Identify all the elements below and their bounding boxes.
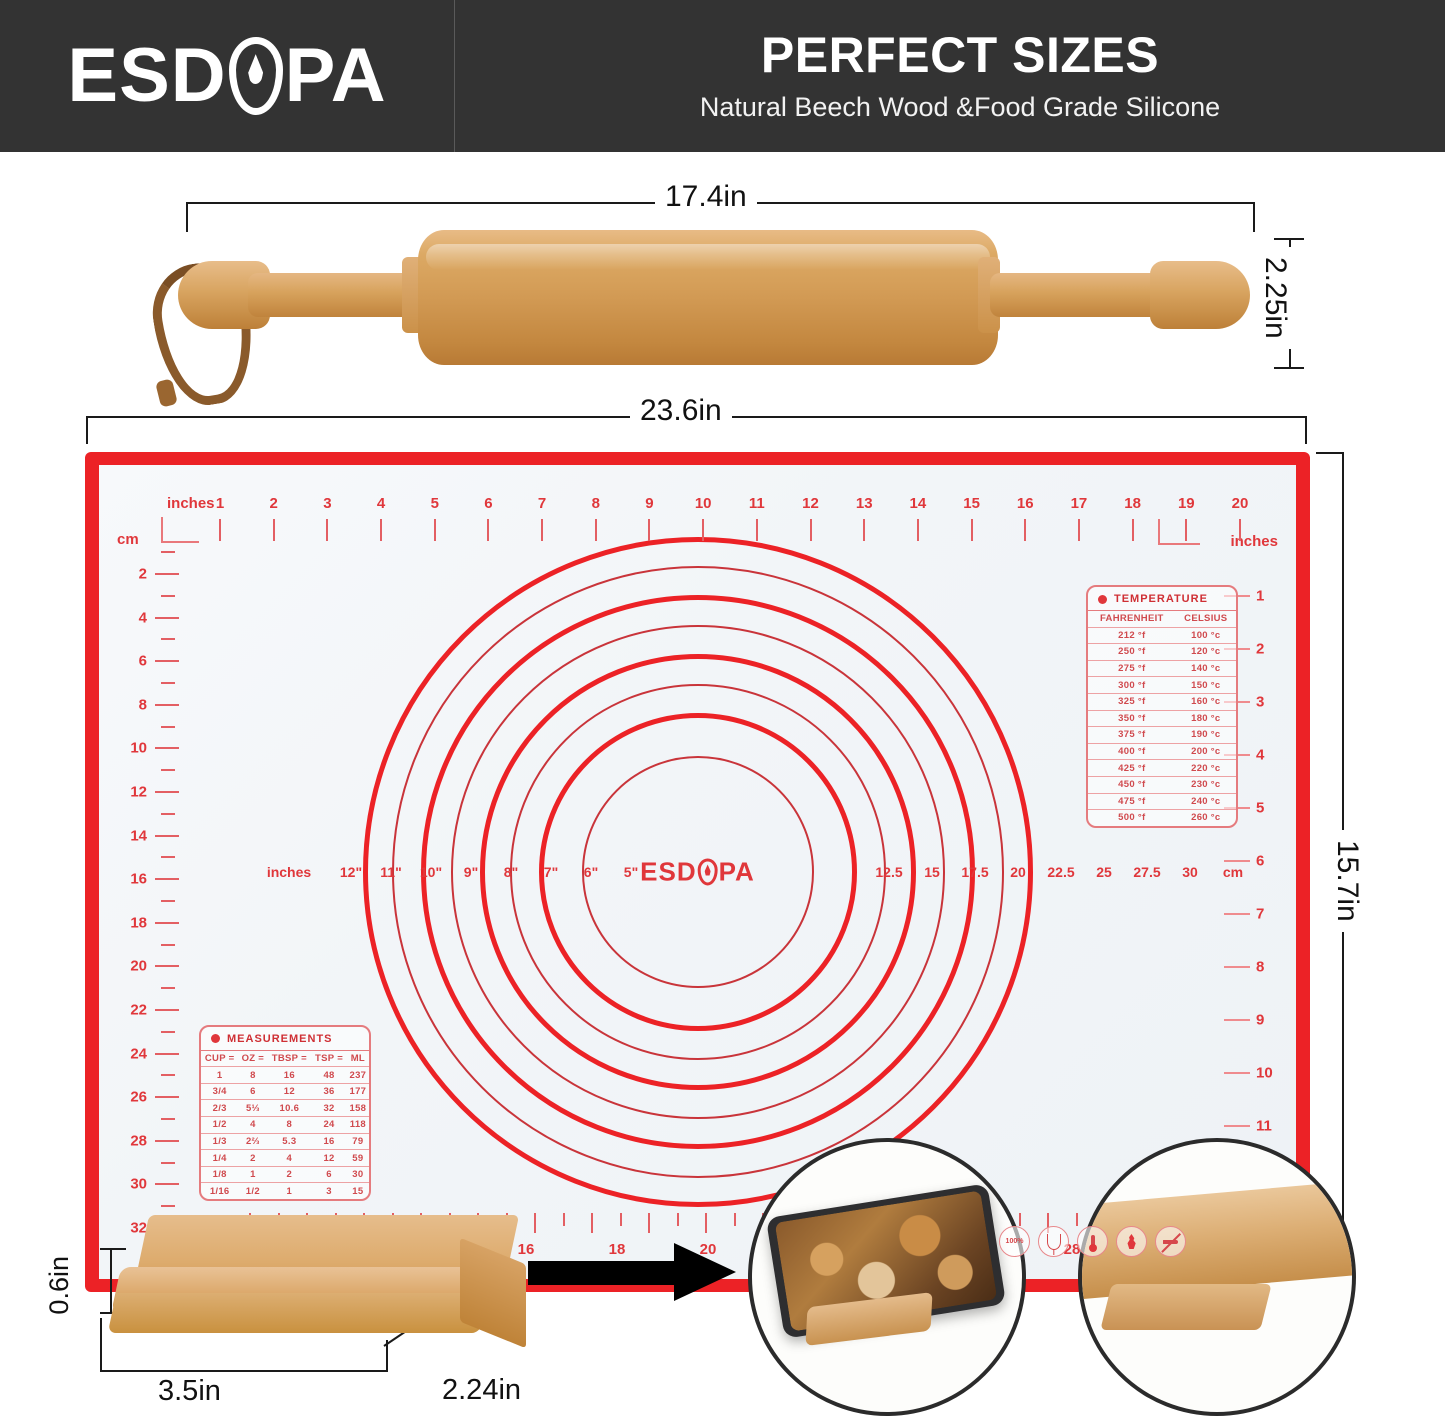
ruler-tick (591, 1213, 593, 1233)
ruler-tick (810, 519, 812, 541)
table-cell: 2/3 (201, 1100, 238, 1117)
ruler-number: 12 (802, 495, 819, 512)
column-header: TSP = (311, 1051, 346, 1067)
table-cell: 100 °c (1176, 627, 1236, 644)
table-cell: 475 °f (1088, 793, 1176, 810)
table-cell: 36 (311, 1083, 346, 1100)
ruler-number: 4 (1256, 747, 1282, 764)
ruler-tick (1224, 966, 1250, 968)
ruler-number: 22 (113, 1002, 147, 1019)
table-cell: 325 °f (1088, 693, 1176, 710)
column-header: FAHRENHEIT (1088, 611, 1176, 627)
center-scale-inch-value: 12" (340, 864, 362, 880)
table-cell: 190 °c (1176, 727, 1236, 744)
ruler-number: 12 (113, 784, 147, 801)
ruler-number: 5 (1256, 800, 1282, 817)
ruler-number: 7 (538, 495, 546, 512)
ruler-tick (155, 1096, 179, 1098)
ruler-number: 17 (1071, 495, 1088, 512)
top-ruler-corner-right (1158, 519, 1200, 545)
table-cell: 10.6 (267, 1100, 311, 1117)
table-cell: 12 (311, 1150, 346, 1167)
mat-brand-pa: PA (719, 857, 755, 888)
table-row: 1/4241259 (201, 1150, 369, 1167)
ruler-tick (1224, 1019, 1250, 1021)
ruler-minor-tick (161, 944, 175, 946)
ruler-tick (677, 1213, 679, 1226)
ruler-tick (1019, 1213, 1021, 1226)
temperature-table: TEMPERATURE FAHRENHEITCELSIUS 212 °f100 … (1086, 585, 1238, 828)
ruler-number: 11 (1256, 1118, 1282, 1135)
center-scale-inch-value: 9" (464, 864, 478, 880)
ruler-minor-tick (161, 595, 175, 597)
ruler-number: 2 (113, 566, 147, 583)
temperature-title-text: TEMPERATURE (1114, 593, 1208, 605)
ruler-number: 4 (113, 609, 147, 626)
ruler-tick (971, 519, 973, 541)
stand-front-face (108, 1293, 489, 1333)
ruler-number: 5 (431, 495, 439, 512)
table-cell: 158 (347, 1100, 369, 1117)
table-cell: 8 (267, 1117, 311, 1134)
center-scale-cm-value: 22.5 (1047, 864, 1074, 880)
fire-resistant-icon (1116, 1226, 1147, 1257)
brand-text-pa: PA (285, 38, 387, 114)
ruler-tick (1024, 519, 1026, 541)
column-header: CELSIUS (1176, 611, 1236, 627)
table-cell: 220 °c (1176, 760, 1236, 777)
table-cell: 1 (201, 1067, 238, 1084)
ruler-number: 24 (113, 1045, 147, 1062)
ruler-tick (155, 922, 179, 924)
table-cell: 24 (311, 1117, 346, 1134)
ruler-minor-tick (161, 900, 175, 902)
temperature-table-title: TEMPERATURE (1088, 587, 1236, 611)
table-cell: 1/2 (238, 1183, 267, 1199)
column-header: CUP = (201, 1051, 238, 1067)
table-row: 212 °f100 °c (1088, 627, 1236, 644)
cut-resistant-icon (1155, 1226, 1186, 1257)
ruler-tick (1185, 519, 1187, 541)
bullet-icon (1098, 595, 1107, 604)
table-row: 450 °f230 °c (1088, 776, 1236, 793)
table-cell: 240 °c (1176, 793, 1236, 810)
dim-label-stand-height: 0.6in (44, 1248, 75, 1323)
table-cell: 275 °f (1088, 660, 1176, 677)
table-cell: 3/4 (201, 1083, 238, 1100)
rolling-pin (150, 225, 1270, 395)
inset-photo-pin-on-stand (1078, 1138, 1356, 1416)
column-header: TBSP = (267, 1051, 311, 1067)
ruler-minor-tick (161, 769, 175, 771)
mat-brand-esd: ESD (640, 857, 696, 888)
ruler-tick (326, 519, 328, 541)
ruler-number: 3 (1256, 694, 1282, 711)
table-cell: 48 (311, 1067, 346, 1084)
ruler-tick (1224, 1125, 1250, 1127)
ruler-tick (648, 519, 650, 541)
table-cell: 5.3 (267, 1133, 311, 1150)
dim-tick-mat-left (86, 416, 88, 444)
inset-photo-phone-on-stand (748, 1138, 1026, 1416)
ruler-minor-tick (161, 1118, 175, 1120)
column-header: ML (347, 1051, 369, 1067)
table-row: 1/32⅔5.31679 (201, 1133, 369, 1150)
ruler-tick (705, 1213, 707, 1233)
temperature-safe-icon (1077, 1226, 1108, 1257)
pin-barrel (418, 230, 998, 365)
ruler-number: 2 (270, 495, 278, 512)
table-cell: 160 °c (1176, 693, 1236, 710)
center-scale-cm-value: 17.5 (961, 864, 988, 880)
ruler-number: 11 (749, 495, 765, 512)
brand-text-esd: ESD (67, 38, 226, 114)
center-scale-cm-value: 20 (1010, 864, 1026, 880)
table-cell: 450 °f (1088, 776, 1176, 793)
ruler-tick (380, 519, 382, 541)
food-safe-icon (1038, 1226, 1069, 1257)
ruler-number: 20 (113, 958, 147, 975)
dim-label-mat-width: 23.6in (630, 394, 732, 428)
center-scale-inch-value: 11" (380, 864, 401, 880)
dim-tick-mat-top (1316, 452, 1344, 454)
silicone-baking-mat: inches cm inches 12345678910111213141516… (85, 452, 1310, 1292)
table-cell: 6 (238, 1083, 267, 1100)
ruler-tick (541, 519, 543, 541)
table-cell: 4 (267, 1150, 311, 1167)
ruler-number: 19 (1178, 495, 1195, 512)
table-cell: 4 (238, 1117, 267, 1134)
ruler-number: 3 (323, 495, 331, 512)
ruler-tick (155, 965, 179, 967)
leather-strap-knot (155, 378, 178, 407)
table-cell: 425 °f (1088, 760, 1176, 777)
ruler-tick (155, 704, 179, 706)
ruler-minor-tick (161, 1205, 175, 1207)
ruler-number: 26 (113, 1089, 147, 1106)
ruler-tick (534, 1213, 536, 1233)
pin-shaft-left (248, 273, 428, 317)
certification-badges: 100% (999, 1226, 1186, 1257)
table-cell: 32 (311, 1100, 346, 1117)
ruler-tick (155, 791, 179, 793)
ruler-tick (1076, 1213, 1078, 1226)
center-scale-cm-label: cm (1223, 864, 1243, 880)
ruler-number: 9 (1256, 1012, 1282, 1029)
ruler-number: 9 (645, 495, 653, 512)
bullet-icon (211, 1034, 220, 1043)
ruler-tick (155, 617, 179, 619)
header-text-block: PERFECT SIZES Natural Beech Wood &Food G… (455, 0, 1445, 152)
table-row: 400 °f200 °c (1088, 743, 1236, 760)
measurements-table: MEASUREMENTS CUP =OZ =TBSP =TSP =ML 1816… (199, 1025, 371, 1201)
ruler-number: 1 (1256, 588, 1282, 605)
measurements-title-text: MEASUREMENTS (227, 1033, 333, 1045)
table-row: 350 °f180 °c (1088, 710, 1236, 727)
ruler-tick (219, 519, 221, 541)
table-cell: 15 (347, 1183, 369, 1199)
table-cell: 500 °f (1088, 810, 1176, 826)
table-row: 1/161/21315 (201, 1183, 369, 1199)
ruler-number: 16 (1017, 495, 1034, 512)
pin-handle-right (1150, 261, 1250, 329)
ruler-number: 6 (113, 653, 147, 670)
table-cell: 200 °c (1176, 743, 1236, 760)
ruler-number: 13 (856, 495, 873, 512)
ruler-minor-tick (161, 638, 175, 640)
table-cell: 400 °f (1088, 743, 1176, 760)
center-scale-cm-value: 15 (924, 864, 940, 880)
table-cell: 230 °c (1176, 776, 1236, 793)
ruler-number: 14 (113, 827, 147, 844)
center-scale-inch-value: 7" (544, 864, 558, 880)
table-cell: 12 (267, 1083, 311, 1100)
center-scale-inch-value: 5" (624, 864, 638, 880)
ruler-number: 10 (695, 495, 712, 512)
ruler-tick (155, 660, 179, 662)
ruler-tick (155, 1140, 179, 1142)
table-cell: 1/8 (201, 1166, 238, 1183)
table-row: 375 °f190 °c (1088, 727, 1236, 744)
measurements-table-title: MEASUREMENTS (201, 1027, 369, 1051)
ruler-tick (620, 1213, 622, 1226)
table-cell: 260 °c (1176, 810, 1236, 826)
temperature-grid: FAHRENHEITCELSIUS 212 °f100 °c250 °f120 … (1088, 611, 1236, 826)
mat-brand-logo: ESD PA (640, 857, 755, 888)
table-row: 250 °f120 °c (1088, 644, 1236, 661)
table-cell: 16 (311, 1133, 346, 1150)
table-cell: 6 (311, 1166, 346, 1183)
ruler-tick (648, 1213, 650, 1233)
stand-holding-rolling-pin (1100, 1284, 1271, 1330)
table-row: 475 °f240 °c (1088, 793, 1236, 810)
table-cell: 1/16 (201, 1183, 238, 1199)
ruler-number: 18 (1124, 495, 1141, 512)
ruler-tick (1078, 519, 1080, 541)
center-scale-inch-value: 10" (420, 864, 442, 880)
table-row: 325 °f160 °c (1088, 693, 1236, 710)
table-cell: 1/2 (201, 1117, 238, 1134)
table-cell: 16 (267, 1067, 311, 1084)
ruler-number: 18 (113, 914, 147, 931)
table-cell: 120 °c (1176, 644, 1236, 661)
table-header-row: CUP =OZ =TBSP =TSP =ML (201, 1051, 369, 1067)
table-cell: 250 °f (1088, 644, 1176, 661)
ruler-minor-tick (161, 1031, 175, 1033)
page-subtitle: Natural Beech Wood &Food Grade Silicone (700, 92, 1220, 123)
ruler-number: 14 (910, 495, 927, 512)
page-header: ESD PA PERFECT SIZES Natural Beech Wood … (0, 0, 1445, 152)
table-cell: 237 (347, 1067, 369, 1084)
ruler-minor-tick (161, 856, 175, 858)
table-cell: 1 (267, 1183, 311, 1199)
ruler-tick (917, 519, 919, 541)
table-row: 181648237 (201, 1067, 369, 1084)
table-row: 275 °f140 °c (1088, 660, 1236, 677)
table-cell: 350 °f (1088, 710, 1176, 727)
ruler-tick (1132, 519, 1134, 541)
table-cell: 300 °f (1088, 677, 1176, 694)
table-row: 3/461236177 (201, 1083, 369, 1100)
center-scale-inch-value: 6" (584, 864, 598, 880)
top-ruler: inches cm inches 12345678910111213141516… (99, 495, 1296, 551)
table-cell: 1 (238, 1166, 267, 1183)
ruler-tick (155, 747, 179, 749)
ruler-tick (756, 519, 758, 541)
column-header: OZ = (238, 1051, 267, 1067)
table-row: 1/24824118 (201, 1117, 369, 1134)
ruler-tick (155, 1183, 179, 1185)
dim-label-stand-width: 3.5in (148, 1375, 231, 1408)
ruler-tick (734, 1213, 736, 1226)
ruler-minor-tick (161, 1162, 175, 1164)
platinum-silicone-icon: 100% (999, 1226, 1030, 1257)
table-cell: 375 °f (1088, 727, 1176, 744)
brand-block: ESD PA (0, 0, 455, 152)
ruler-tick (155, 835, 179, 837)
ruler-number: 1 (216, 495, 224, 512)
ruler-number: 10 (1256, 1065, 1282, 1082)
ruler-number: 8 (592, 495, 600, 512)
ruler-tick (702, 519, 704, 541)
center-scale-inch-value: 8" (504, 864, 518, 880)
dim-tick-stand-w-left (100, 1318, 102, 1372)
table-cell: 3 (311, 1183, 346, 1199)
table-cell: 2⅔ (238, 1133, 267, 1150)
ruler-tick (1224, 913, 1250, 915)
table-header-row: FAHRENHEITCELSIUS (1088, 611, 1236, 627)
ruler-minor-tick (161, 726, 175, 728)
ruler-number: 7 (1256, 906, 1282, 923)
ruler-number: 10 (113, 740, 147, 757)
table-row: 500 °f260 °c (1088, 810, 1236, 826)
ruler-number: 2 (1256, 641, 1282, 658)
ruler-number: 30 (113, 1176, 147, 1193)
center-scale-cm-value: 12.5 (875, 864, 902, 880)
ruler-tick (155, 1053, 179, 1055)
table-row: 300 °f150 °c (1088, 677, 1236, 694)
center-scale-cm-value: 30 (1182, 864, 1198, 880)
center-scale-cm-value: 27.5 (1133, 864, 1160, 880)
table-cell: 150 °c (1176, 677, 1236, 694)
center-scale-inches-label: inches (267, 864, 311, 880)
ruler-number: 28 (113, 1132, 147, 1149)
table-cell: 118 (347, 1117, 369, 1134)
ruler-tick (434, 519, 436, 541)
table-cell: 79 (347, 1133, 369, 1150)
ruler-tick (595, 519, 597, 541)
ruler-tick (563, 1213, 565, 1226)
table-cell: 59 (347, 1150, 369, 1167)
table-cell: 177 (347, 1083, 369, 1100)
pin-shaft-right (990, 273, 1165, 317)
ruler-tick (487, 519, 489, 541)
ruler-number: 4 (377, 495, 385, 512)
pointer-arrow-icon (528, 1243, 738, 1301)
table-cell: 8 (238, 1067, 267, 1084)
ruler-tick (863, 519, 865, 541)
table-row: 2/35⅓10.632158 (201, 1100, 369, 1117)
brand-logo: ESD PA (67, 37, 386, 115)
ruler-minor-tick (161, 551, 175, 553)
ruler-minor-tick (161, 1074, 175, 1076)
measurements-grid: CUP =OZ =TBSP =TSP =ML 1816482373/461236… (201, 1051, 369, 1199)
table-cell: 212 °f (1088, 627, 1176, 644)
table-cell: 2 (267, 1166, 311, 1183)
table-cell: 2 (238, 1150, 267, 1167)
table-cell: 1/3 (201, 1133, 238, 1150)
table-cell: 180 °c (1176, 710, 1236, 727)
mat-surface: inches cm inches 12345678910111213141516… (99, 465, 1296, 1279)
dim-label-pin-length: 17.4in (655, 180, 757, 214)
center-scale-cm-value: 25 (1096, 864, 1112, 880)
ruler-tick (1224, 1072, 1250, 1074)
ruler-tick (155, 573, 179, 575)
ruler-number: 8 (113, 696, 147, 713)
water-drop-icon (698, 859, 718, 886)
wooden-phone-stand (112, 1215, 532, 1375)
ruler-number: 15 (963, 495, 980, 512)
page-title: PERFECT SIZES (761, 29, 1159, 82)
table-cell: 140 °c (1176, 660, 1236, 677)
table-row: 425 °f220 °c (1088, 760, 1236, 777)
ruler-tick (155, 1009, 179, 1011)
ruler-number: 8 (1256, 959, 1282, 976)
table-cell: 1/4 (201, 1150, 238, 1167)
ruler-minor-tick (161, 682, 175, 684)
table-row: 1/812630 (201, 1166, 369, 1183)
dim-tick-mat-right (1305, 416, 1307, 444)
water-drop-icon (229, 37, 283, 115)
dim-label-stand-depth: 2.24in (432, 1374, 531, 1407)
ruler-minor-tick (161, 987, 175, 989)
ruler-tick (273, 519, 275, 541)
ruler-minor-tick (161, 813, 175, 815)
table-cell: 5⅓ (238, 1100, 267, 1117)
table-cell: 30 (347, 1166, 369, 1183)
dim-label-mat-height: 15.7in (1330, 830, 1364, 932)
ruler-number: 6 (484, 495, 492, 512)
